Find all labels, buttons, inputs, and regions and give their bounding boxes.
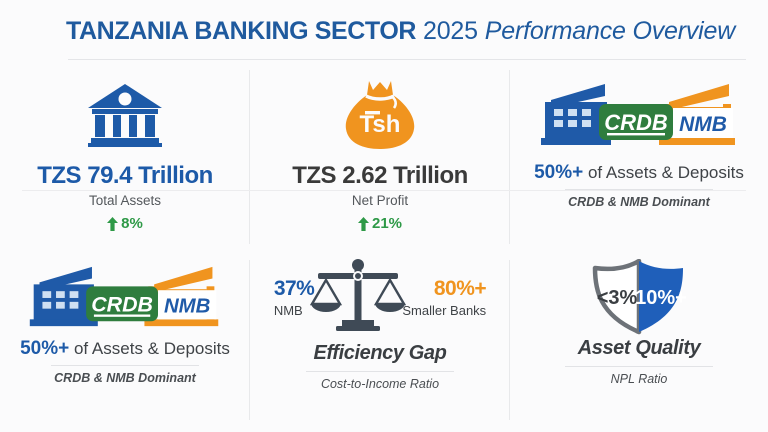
share-headline-text: of Assets & Deposits [588,163,744,182]
share-subtitle: CRDB & NMB Dominant [54,370,196,387]
money-bag-icon: Tsh [339,72,421,158]
arrow-up-icon [358,217,369,231]
arrow-up-icon [107,217,118,231]
card-asset-quality: <3% 10%+ Asset Quality NPL Ratio [510,252,768,428]
card-inner-divider [306,371,454,372]
title-divider [68,59,746,60]
crdb-nmb-banks-icon: CRDB NMB [533,72,745,158]
money-bag-currency-text: Tsh [360,111,401,138]
stat-label: Total Assets [89,192,161,210]
share-headline-text: of Assets & Deposits [74,339,230,358]
crdb-nmb-banks-icon: CRDB NMB [22,260,228,334]
bank-building-icon [86,72,164,158]
share-subtitle: CRDB & NMB Dominant [568,194,710,211]
card-efficiency-gap: 37% NMB [250,252,510,428]
stat-label: Net Profit [352,192,408,210]
card-net-profit: Tsh TZS 2.62 Trillion Net Profit 21% [250,62,510,252]
efficiency-right: 80%+ Smaller Banks [402,278,486,317]
stat-delta-value: 8% [121,214,143,234]
efficiency-left: 37% NMB [274,278,315,317]
card-market-share-top: CRDB NMB 50%+ of Assets & Deposits CRDB … [510,62,768,252]
stat-delta-value: 21% [372,214,402,234]
nmb-badge-text: NMB [679,113,727,136]
efficiency-subtitle: Cost-to-Income Ratio [321,376,439,393]
share-headline-number: 50%+ [20,338,69,359]
efficiency-title: Efficiency Gap [314,341,447,366]
shield-left-text: <3% [597,287,638,309]
infographic-page: TANZANIA BANKING SECTOR 2025 Performance… [0,0,768,432]
card-market-share-bottom: CRDB NMB 50%+ of Assets & Deposits CRDB … [0,252,250,428]
shield-right-text: 10%+ [635,287,687,309]
shield-icon: <3% 10%+ [579,260,699,334]
page-title: TANZANIA BANKING SECTOR 2025 Performance… [0,0,768,46]
card-total-assets: TZS 79.4 Trillion Total Assets 8% [0,62,250,252]
stats-grid: TZS 79.4 Trillion Total Assets 8% Tsh [0,62,768,428]
crdb-badge-text: CRDB [604,110,668,135]
share-headline-number: 50%+ [534,162,583,183]
share-headline: 50%+ of Assets & Deposits [534,162,744,184]
card-inner-divider [565,366,713,367]
efficiency-comparison: 37% NMB [274,258,486,337]
efficiency-left-number: 37% [274,278,315,299]
asset-quality-title: Asset Quality [578,336,701,361]
balance-scale-icon [310,258,406,337]
stat-value: TZS 79.4 Trillion [37,162,213,190]
row-divider [22,190,746,191]
stat-delta: 21% [358,214,402,234]
efficiency-right-number: 80%+ [434,278,486,299]
title-main: TANZANIA BANKING SECTOR [66,17,416,45]
share-headline: 50%+ of Assets & Deposits [20,338,230,360]
title-year: 2025 [423,17,478,45]
title-subtitle: Performance Overview [485,17,735,45]
efficiency-left-caption: NMB [274,304,303,317]
card-inner-divider [51,365,199,366]
asset-quality-subtitle: NPL Ratio [611,371,668,388]
efficiency-right-caption: Smaller Banks [402,304,486,317]
crdb-badge-text: CRDB [91,293,153,317]
stat-value: TZS 2.62 Trillion [292,162,468,190]
nmb-badge-text: NMB [164,296,210,318]
stat-delta: 8% [107,214,143,234]
